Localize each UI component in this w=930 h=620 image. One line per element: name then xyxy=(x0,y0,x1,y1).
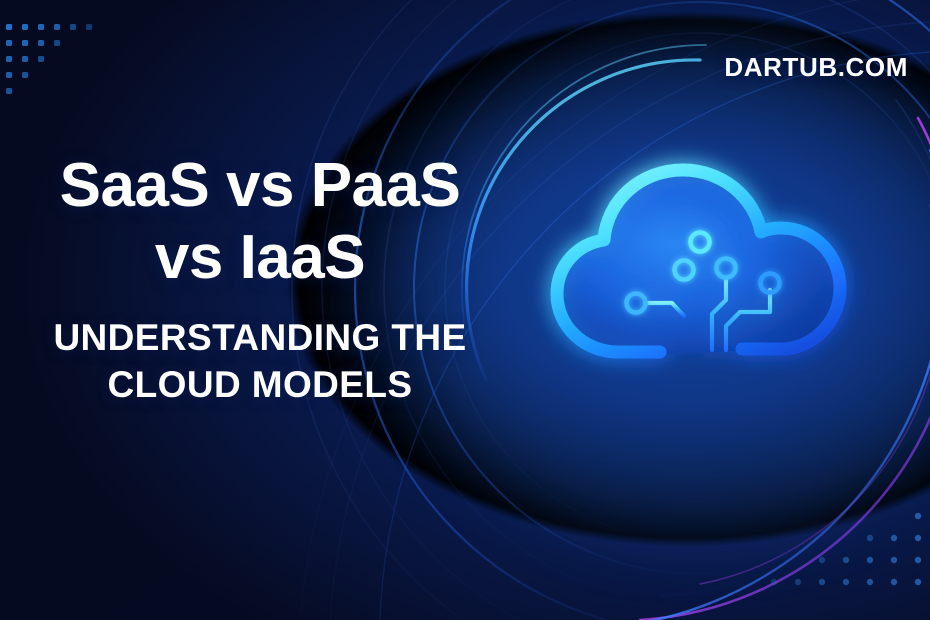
subheadline-block: UNDERSTANDING THE CLOUD MODELS xyxy=(0,314,520,408)
headline-line-2: vs IaaS xyxy=(0,222,520,294)
headline-line-1: SaaS vs PaaS xyxy=(0,150,520,222)
subheadline-line-1: UNDERSTANDING THE xyxy=(0,314,520,361)
subheadline-line-2: CLOUD MODELS xyxy=(0,361,520,408)
headline-block: SaaS vs PaaS vs IaaS UNDERSTANDING THE C… xyxy=(0,150,520,408)
poster-canvas: DARTUB.COM SaaS vs PaaS vs IaaS UNDERSTA… xyxy=(0,0,930,620)
brand-logo[interactable]: DARTUB.COM xyxy=(724,52,908,83)
